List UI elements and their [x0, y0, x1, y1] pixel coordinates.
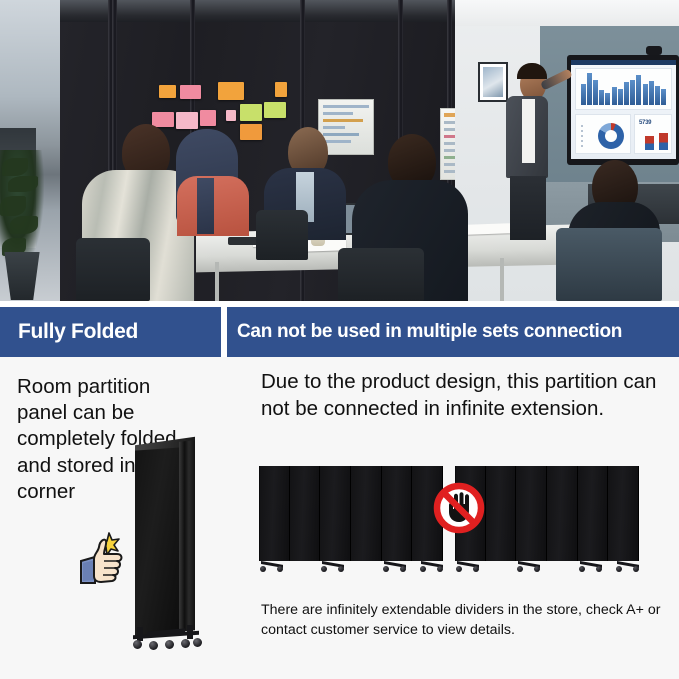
- sticky-note: [200, 110, 216, 126]
- partition-panel: [382, 466, 413, 561]
- dashboard-bar: [581, 84, 586, 105]
- header-right-title: Can not be used in multiple sets connect…: [227, 321, 622, 343]
- dashboard-kpi-bars: [639, 128, 668, 150]
- partition-foot: [617, 561, 639, 571]
- partition-foot: [580, 561, 602, 571]
- dashboard-kpi-bar: [659, 133, 668, 150]
- header-left-title: Fully Folded: [0, 320, 138, 344]
- sticky-note: [218, 82, 244, 100]
- panel-stacked-side: [179, 440, 195, 631]
- dashboard-donut-card: [575, 114, 631, 154]
- dashboard-bar: [630, 80, 635, 105]
- sticky-note: [264, 102, 286, 118]
- folded-partition-panel: [131, 439, 211, 669]
- photo-ceiling: [455, 0, 679, 26]
- dashboard-kpi-bar: [645, 136, 654, 150]
- partition-panel: [320, 466, 351, 561]
- section-header-no-multiple-sets: Can not be used in multiple sets connect…: [227, 307, 679, 357]
- framed-artwork: [478, 62, 508, 102]
- partition-panel: [290, 466, 321, 561]
- chair-5: [556, 228, 662, 301]
- right-caption-text: There are infinitely extendable dividers…: [261, 600, 661, 640]
- dashboard-kpi-value: 5739: [639, 120, 651, 126]
- partition-panel: [547, 466, 578, 561]
- partition-foot: [384, 561, 406, 571]
- sticky-note: [176, 112, 198, 129]
- dashboard-bar: [587, 73, 592, 105]
- partition-panel: [259, 466, 290, 561]
- dashboard-bar: [643, 84, 648, 105]
- dashboard-screen: 5739: [571, 60, 676, 159]
- partition-set-left: [259, 466, 443, 569]
- sticky-note: [152, 112, 174, 127]
- dashboard-bar: [599, 90, 604, 105]
- video-conference-camera: [646, 46, 662, 55]
- dashboard-bar: [624, 82, 629, 105]
- chair-3: [256, 210, 308, 260]
- thumbs-up-icon: [71, 525, 133, 587]
- partition-panel: [578, 466, 609, 561]
- sticky-note: [159, 85, 176, 98]
- partition-foot: [457, 561, 479, 571]
- dashboard-kpi-card: 5739: [634, 114, 672, 154]
- chair-1: [76, 238, 150, 301]
- lower-content: Room partition panel can be completely f…: [0, 357, 679, 679]
- dashboard-bar: [636, 75, 641, 105]
- dashboard-donut-chart: [598, 123, 624, 149]
- sticky-note: [240, 124, 262, 140]
- wall-mounted-display: 5739: [567, 55, 679, 165]
- sticky-note: [275, 82, 287, 97]
- dashboard-bar: [618, 89, 623, 105]
- partition-sets-illustration: [255, 462, 659, 590]
- dashboard-bar: [661, 89, 666, 105]
- partition-foot: [421, 561, 443, 571]
- dashboard-bar-card: [575, 68, 672, 110]
- sticky-note: [226, 110, 236, 121]
- dashboard-topbar: [571, 60, 676, 65]
- dashboard-bar: [612, 87, 617, 105]
- chair-4: [338, 248, 424, 301]
- product-infographic: 5739: [0, 0, 679, 679]
- right-column: Due to the product design, this partitio…: [225, 357, 679, 679]
- right-body-text: Due to the product design, this partitio…: [261, 369, 661, 422]
- meeting-room-photo: 5739: [0, 0, 679, 301]
- panel-front-face: [135, 447, 181, 635]
- dashboard-bar: [649, 81, 654, 105]
- partition-panel: [608, 466, 639, 561]
- dashboard-bar: [655, 86, 660, 105]
- panel-base-frame: [133, 627, 199, 649]
- partition-panel: [516, 466, 547, 561]
- dashboard-bar-chart: [580, 73, 667, 105]
- partition-foot: [518, 561, 540, 571]
- partition-panel: [351, 466, 382, 561]
- sticky-note: [240, 104, 262, 121]
- section-header-fully-folded: Fully Folded: [0, 307, 221, 357]
- partition-foot: [261, 561, 283, 571]
- no-connection-prohibition-icon: [433, 482, 485, 534]
- partition-foot: [322, 561, 344, 571]
- left-column: Room partition panel can be completely f…: [0, 357, 224, 679]
- dashboard-bar: [605, 93, 610, 105]
- sticky-note: [180, 85, 201, 99]
- dashboard-bar: [593, 80, 598, 105]
- partition-panel: [486, 466, 517, 561]
